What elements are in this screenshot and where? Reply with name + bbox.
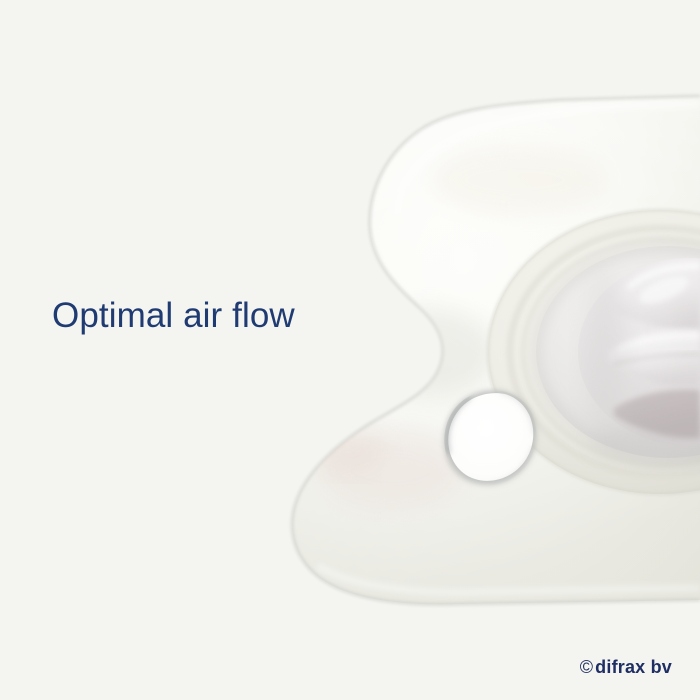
copyright-symbol: © <box>580 657 593 677</box>
page-title: Optimal air flow <box>52 294 295 338</box>
product-photo <box>0 0 700 700</box>
pacifier-illustration <box>0 0 700 700</box>
copyright-owner: difrax bv <box>595 657 672 677</box>
screenshot-canvas: Optimal air flow ©difrax bv <box>0 0 700 700</box>
copyright-notice: ©difrax bv <box>580 657 672 678</box>
